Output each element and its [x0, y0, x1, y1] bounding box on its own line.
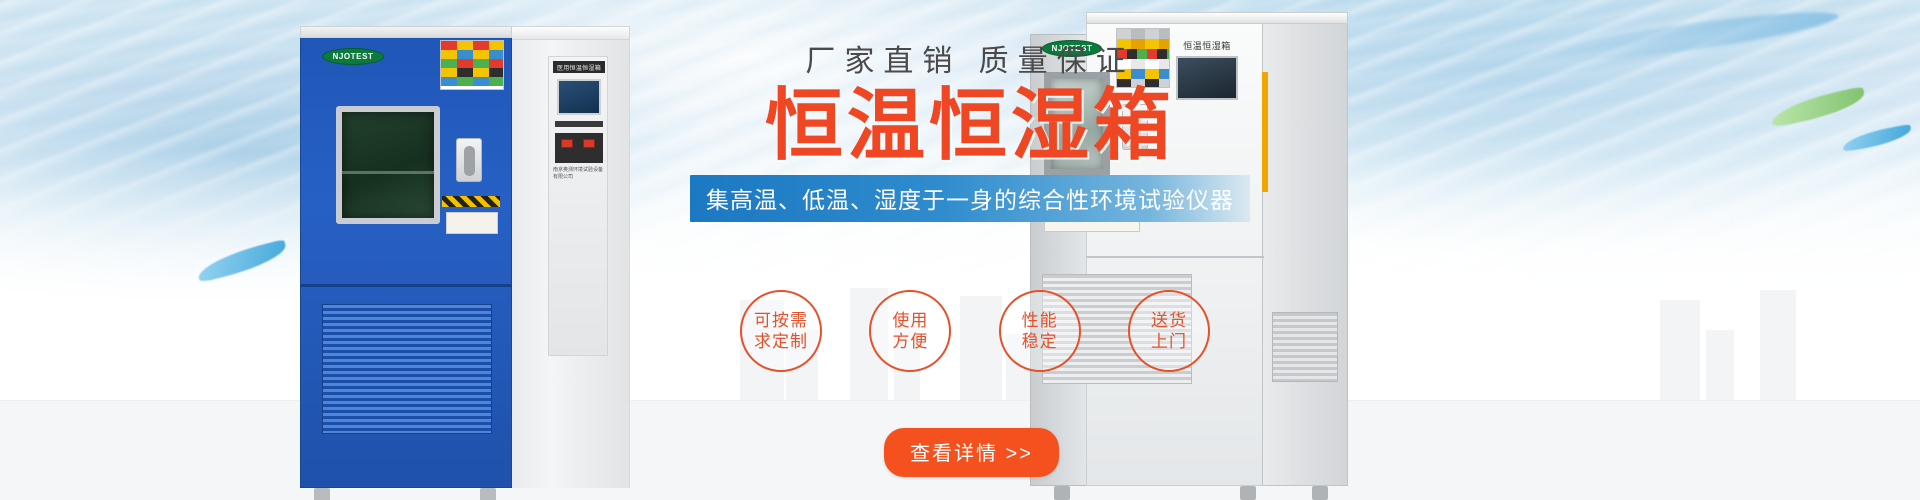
left-chamber-foot-2	[480, 488, 496, 500]
right-chamber-right-side	[1262, 16, 1348, 486]
feature-badge-delivery-line2: 上门	[1151, 331, 1187, 352]
left-chamber-button-panel[interactable]	[555, 133, 603, 163]
view-details-button[interactable]: 查看详情 >>	[884, 428, 1059, 477]
city-silhouette-h	[1706, 330, 1734, 400]
right-chamber-divider	[1086, 256, 1264, 258]
right-chamber-foot-3	[1312, 486, 1328, 500]
left-chamber-control-column: 医用恒温恒湿箱 南京奥测环境试验设备有限公司	[548, 56, 608, 356]
left-chamber-brand-logo: NJOTEST	[322, 48, 384, 65]
feature-badge-custom-line1: 可按需	[754, 310, 808, 331]
right-chamber-accent-stripe	[1262, 72, 1268, 192]
city-silhouette-i	[1760, 290, 1796, 400]
left-chamber-spec-label	[446, 212, 498, 234]
right-chamber-top-cap	[1086, 12, 1348, 24]
left-chamber-warning-label	[440, 40, 504, 90]
product-banner: NJOTEST 医用恒温恒湿箱 南京奥测环境试验设备有限公司	[0, 0, 1920, 500]
feature-badge-stable[interactable]: 性能 稳定	[999, 290, 1081, 372]
product-image-left-chamber: NJOTEST 医用恒温恒湿箱 南京奥测环境试验设备有限公司	[300, 26, 630, 498]
right-chamber-foot-2	[1240, 486, 1256, 500]
feature-badge-stable-line1: 性能	[1022, 310, 1058, 331]
left-chamber-touchscreen[interactable]	[557, 79, 601, 115]
banner-copy-block: 厂家直销 质量保证 恒温恒湿箱 集高温、低温、湿度于一身的综合性环境试验仪器	[690, 44, 1250, 222]
left-chamber-hazard-stripe	[442, 196, 500, 207]
feature-badge-delivery[interactable]: 送货 上门	[1128, 290, 1210, 372]
left-chamber-indicator-2	[583, 139, 595, 148]
left-chamber-panel-title: 医用恒温恒湿箱	[553, 61, 605, 73]
feature-badge-easy-use[interactable]: 使用 方便	[869, 290, 951, 372]
city-silhouette-g	[1660, 300, 1700, 400]
feature-badge-group: 可按需 求定制 使用 方便 性能 稳定 送货 上门	[740, 290, 1210, 372]
feature-badge-stable-line2: 稳定	[1022, 331, 1058, 352]
left-chamber-door-handle	[456, 138, 482, 182]
right-chamber-foot-1	[1054, 486, 1070, 500]
left-chamber-vent-grille	[322, 304, 492, 434]
feature-badge-easy-use-line1: 使用	[892, 310, 928, 331]
left-chamber-body-top	[508, 26, 630, 40]
left-chamber-foot-1	[314, 488, 330, 500]
banner-headline: 恒温恒湿箱	[690, 84, 1250, 167]
left-chamber-divider	[300, 284, 512, 287]
left-chamber-panel-footer: 南京奥测环境试验设备有限公司	[553, 169, 605, 177]
feature-badge-easy-use-line2: 方便	[892, 331, 928, 352]
feature-badge-delivery-line1: 送货	[1151, 310, 1187, 331]
feature-badge-custom-line2: 求定制	[754, 331, 808, 352]
banner-kicker: 厂家直销 质量保证	[690, 44, 1250, 80]
left-chamber-panel-strip	[555, 121, 603, 127]
left-chamber-indicator-1	[561, 139, 573, 148]
banner-subtitle: 集高温、低温、湿度于一身的综合性环境试验仪器	[690, 175, 1250, 222]
left-chamber-viewing-window	[336, 106, 440, 224]
right-chamber-side-vent	[1272, 312, 1338, 382]
left-chamber-top-cap	[300, 26, 512, 38]
feature-badge-custom[interactable]: 可按需 求定制	[740, 290, 822, 372]
